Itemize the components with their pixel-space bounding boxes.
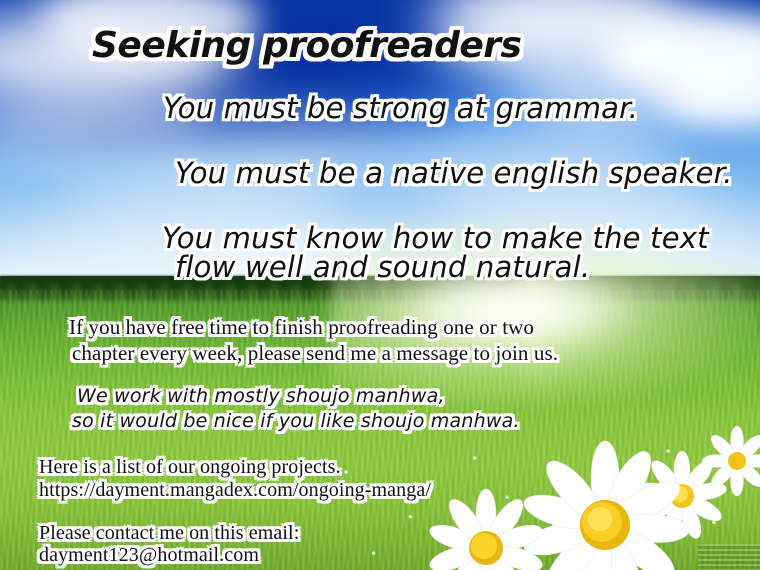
daisy-icon xyxy=(426,488,546,570)
genre-note-line-2: so it would be nice if you like shoujo m… xyxy=(72,411,520,432)
requirement-line-3b: flow well and sound natural. xyxy=(175,251,590,283)
daisy-flower xyxy=(426,488,546,570)
requirement-line-2: You must be a native english speaker. xyxy=(175,157,733,189)
daisy-icon xyxy=(700,424,760,498)
projects-url[interactable]: https://dayment.mangadex.com/ongoing-man… xyxy=(39,479,431,501)
availability-line-2: chapter every week, please send me a mes… xyxy=(72,342,558,366)
requirement-line-1: You must be strong at grammar. xyxy=(163,92,638,124)
page-title: Seeking proofreaders xyxy=(92,26,521,66)
contact-label: Please contact me on this email: xyxy=(39,522,299,544)
availability-line-1: If you have free time to finish proofrea… xyxy=(69,316,534,340)
contact-email[interactable]: dayment123@hotmail.com xyxy=(39,544,259,566)
projects-label: Here is a list of our ongoing projects. xyxy=(39,456,341,478)
daisy-flower xyxy=(700,424,760,498)
genre-note-line-1: We work with mostly shoujo manhwa, xyxy=(77,386,445,407)
corner-stripe-artifact xyxy=(698,544,760,570)
proofreader-recruitment-poster: Seeking proofreaders You must be strong … xyxy=(0,0,760,570)
